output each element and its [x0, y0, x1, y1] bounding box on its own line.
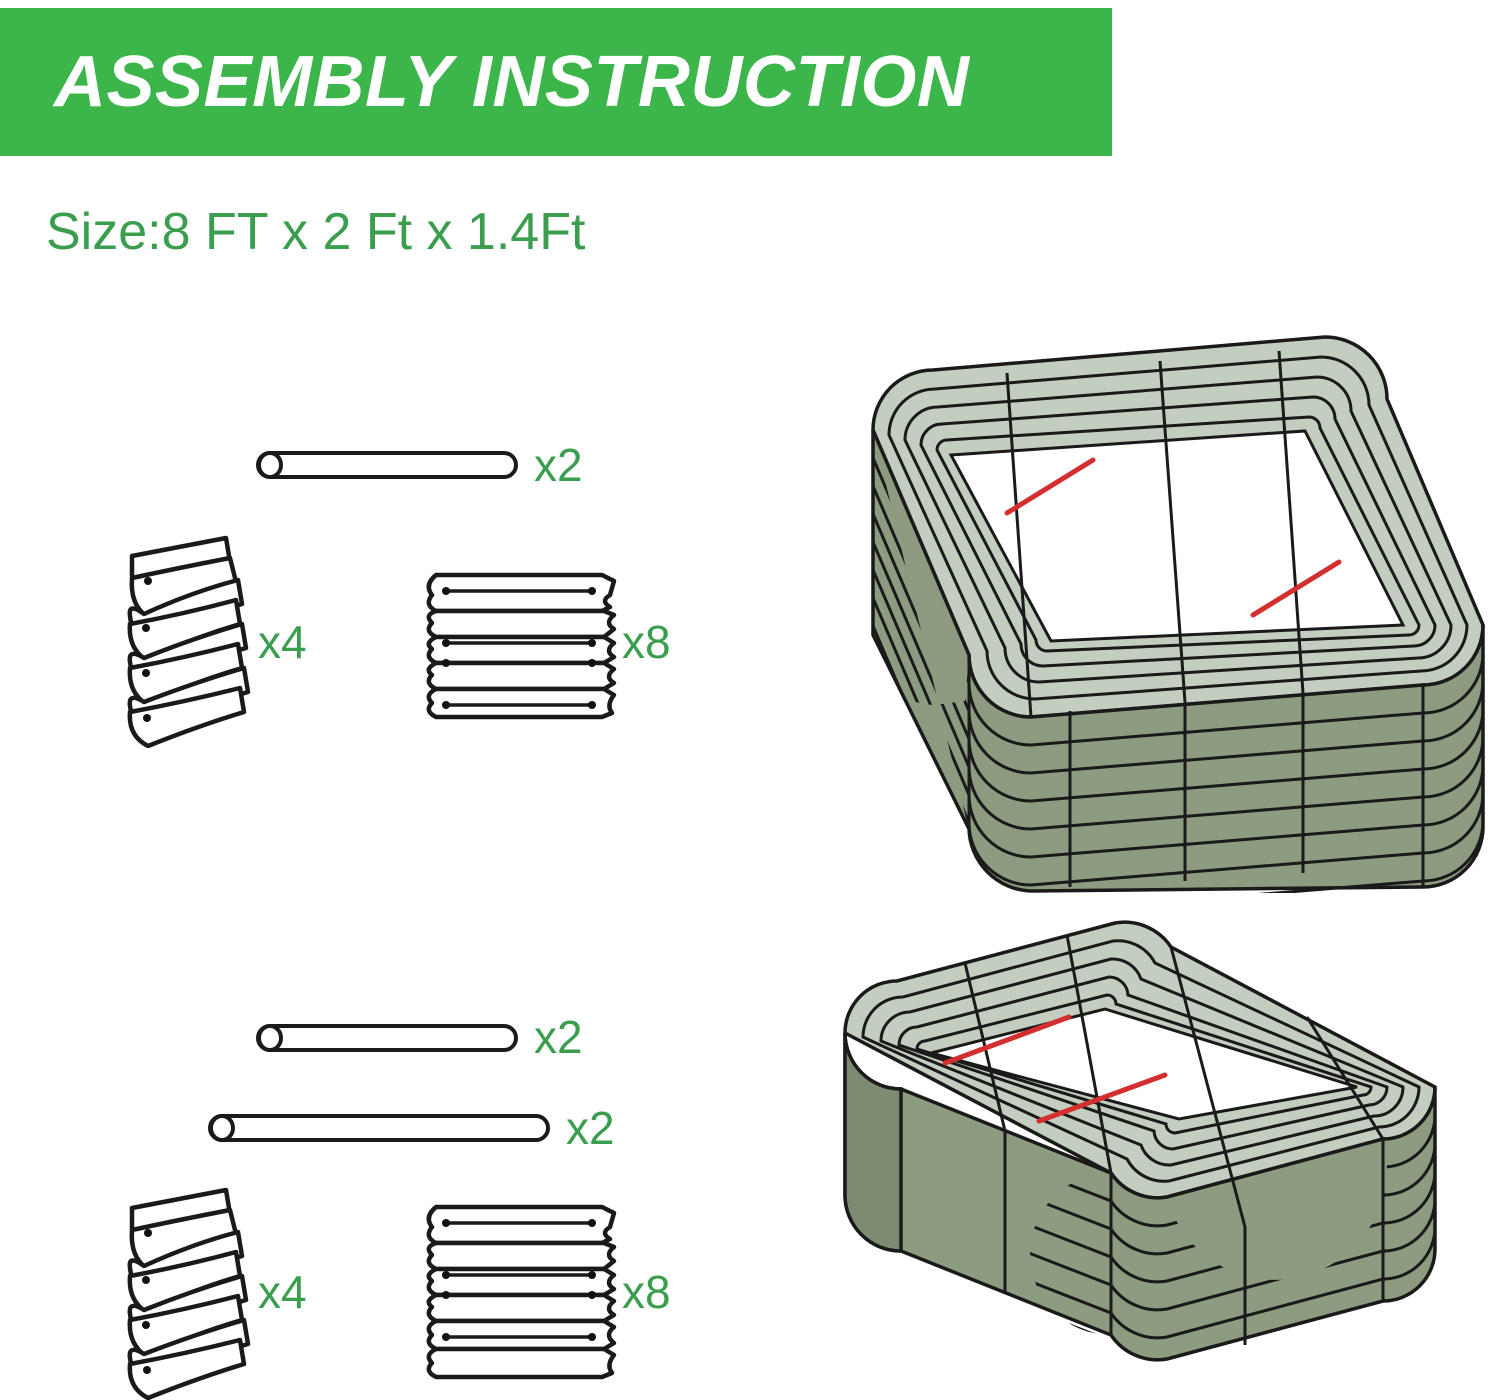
- parts-list-lower: x2 x2: [0, 985, 760, 1385]
- flat-side-panel-icon: [424, 1197, 634, 1382]
- qty-label-rod-long-lower: x2: [566, 1101, 615, 1155]
- qty-label-curved-panel-lower: x4: [258, 1265, 307, 1319]
- page-title: ASSEMBLY INSTRUCTION: [0, 41, 969, 123]
- header-banner: ASSEMBLY INSTRUCTION: [0, 8, 1112, 156]
- straight-rod-icon: [252, 1018, 522, 1058]
- flat-side-panel-icon: [424, 565, 634, 725]
- bed-end-wall: [845, 1033, 901, 1251]
- qty-label-flat-panel-lower: x8: [622, 1265, 671, 1319]
- straight-rod-icon: [252, 445, 522, 485]
- assembled-bed-rounded-rect: [815, 905, 1475, 1365]
- qty-label-flat-panel-upper: x8: [622, 615, 671, 669]
- size-specification-text: Size:8 FT x 2 Ft x 1.4Ft: [46, 202, 585, 262]
- qty-label-rod-short-lower: x2: [534, 1010, 583, 1064]
- straight-rod-icon: [204, 1108, 554, 1148]
- qty-label-rod-upper: x2: [534, 438, 583, 492]
- parts-list-upper: x2: [0, 400, 760, 800]
- assembled-bed-long-oval: [855, 325, 1500, 895]
- qty-label-curved-panel-upper: x4: [258, 615, 307, 669]
